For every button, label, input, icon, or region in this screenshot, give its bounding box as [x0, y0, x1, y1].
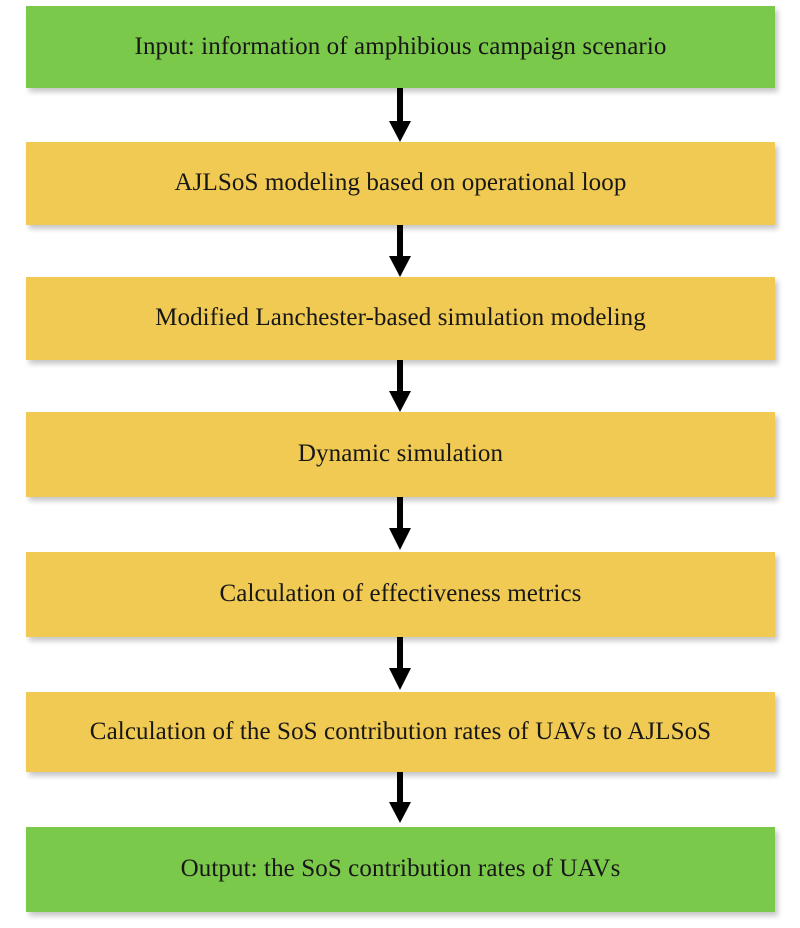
flow-node-label: Input: information of amphibious campaig… — [135, 33, 667, 62]
flow-node-step2: Modified Lanchester-based simulation mod… — [26, 277, 775, 360]
flow-node-label: Dynamic simulation — [298, 440, 503, 469]
flow-node-input: Input: information of amphibious campaig… — [26, 6, 775, 88]
flow-node-step1: AJLSoS modeling based on operational loo… — [26, 142, 775, 225]
flow-arrow-step3-to-step4 — [0, 497, 800, 553]
flow-arrow-step2-to-step3 — [0, 360, 800, 416]
flow-node-label: Modified Lanchester-based simulation mod… — [155, 304, 646, 333]
flow-arrow-step5-to-output — [0, 772, 800, 828]
flowchart-diagram: Input: information of amphibious campaig… — [0, 0, 800, 928]
flow-node-label: Calculation of effectiveness metrics — [219, 580, 581, 609]
flow-node-label: AJLSoS modeling based on operational loo… — [175, 169, 627, 198]
flow-node-step4: Calculation of effectiveness metrics — [26, 552, 775, 637]
flow-node-step5: Calculation of the SoS contribution rate… — [26, 692, 775, 772]
flow-node-output: Output: the SoS contribution rates of UA… — [26, 827, 775, 912]
flow-node-label: Calculation of the SoS contribution rate… — [90, 718, 711, 747]
flow-arrow-input-to-step1 — [0, 88, 800, 144]
flow-node-label: Output: the SoS contribution rates of UA… — [181, 855, 621, 884]
flow-arrow-step4-to-step5 — [0, 637, 800, 693]
flow-arrow-step1-to-step2 — [0, 225, 800, 281]
flow-node-step3: Dynamic simulation — [26, 412, 775, 497]
